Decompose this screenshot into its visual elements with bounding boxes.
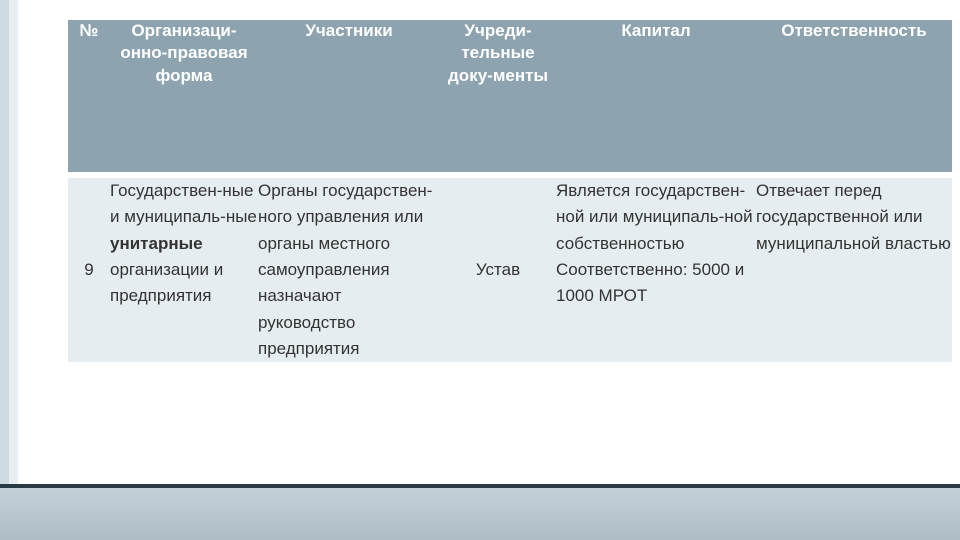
legal-form-prefix: Государствен-ные и муниципаль-ные	[110, 181, 257, 226]
header-legal-form: Организаци-онно-правовая форма	[110, 20, 258, 172]
header-documents: Учреди-тельные доку-менты	[440, 20, 556, 172]
cell-documents: Устав	[440, 178, 556, 362]
slide: № Организаци-онно-правовая форма Участни…	[0, 0, 960, 540]
cell-participants: Органы государствен-ного управления или …	[258, 178, 440, 362]
header-capital: Капитал	[556, 20, 756, 172]
bottom-band-shade	[0, 488, 960, 540]
cell-legal-form: Государствен-ные и муниципаль-ные унитар…	[110, 178, 258, 362]
legal-form-bold: унитарные	[110, 234, 203, 253]
cell-capital: Является государствен-ной или муниципаль…	[556, 178, 756, 362]
header-responsibility: Ответственность	[756, 20, 952, 172]
table-row: 9 Государствен-ные и муниципаль-ные унит…	[68, 178, 952, 362]
bottom-band	[0, 488, 960, 540]
capital-line-2: Соответственно: 5000 и 1000 МРОТ	[556, 257, 756, 310]
comparison-table: № Организаци-онно-правовая форма Участни…	[68, 20, 952, 362]
left-accent-bar	[0, 0, 18, 540]
left-accent-bar-inner	[0, 0, 9, 540]
legal-form-suffix: организации и предприятия	[110, 260, 223, 305]
header-participants: Участники	[258, 20, 440, 172]
capital-line-1: Является государствен-ной или муниципаль…	[556, 178, 756, 257]
header-number: №	[68, 20, 110, 172]
cell-row-number: 9	[68, 178, 110, 362]
cell-responsibility: Отвечает перед государственной или муниц…	[756, 178, 952, 362]
table-header-row: № Организаци-онно-правовая форма Участни…	[68, 20, 952, 172]
